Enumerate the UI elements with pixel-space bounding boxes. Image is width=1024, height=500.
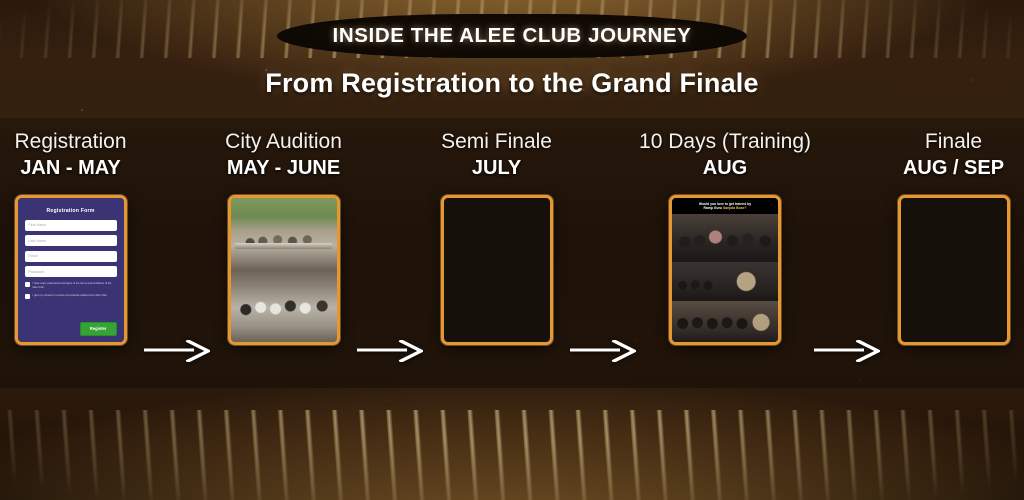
last-name-placeholder: Last Name — [29, 239, 46, 243]
journey-step-registration: Registration JAN - MAY Registration Form… — [0, 130, 141, 345]
form-actions: Register — [25, 322, 117, 336]
banner-title: INSIDE THE ALEE CLUB JOURNEY — [333, 24, 692, 48]
register-button[interactable]: Register — [80, 322, 117, 336]
training-photo-2: group rehearsal with mentor in saree — [672, 262, 778, 301]
first-name-field[interactable]: First Name — [25, 220, 117, 231]
step-name: Finale — [925, 130, 982, 154]
step-card-city-audition[interactable]: outdoor registration queue at audition v… — [228, 195, 340, 345]
arrow-right-icon — [567, 276, 639, 426]
banner-title-ribbon: INSIDE THE ALEE CLUB JOURNEY — [277, 14, 747, 58]
step-card-training[interactable]: Would you love to get trained by Ramp Gu… — [669, 195, 781, 345]
step-date: AUG / SEP — [903, 157, 1004, 179]
step-card-registration[interactable]: Registration Form First Name Last Name E… — [15, 195, 127, 345]
journey-steps-row: Registration JAN - MAY Registration Form… — [0, 130, 1024, 385]
terms-checkbox[interactable] — [25, 282, 30, 287]
training-photo-collage: Would you love to get trained by Ramp Gu… — [672, 198, 778, 342]
step-name: City Audition — [225, 130, 342, 154]
journey-step-training: 10 Days (Training) AUG Would you love to… — [639, 130, 811, 345]
promo-checkbox[interactable] — [25, 294, 30, 299]
journey-step-semi-finale: Semi Finale JULY three contestants in fo… — [426, 130, 567, 345]
step-date: MAY - JUNE — [227, 157, 340, 179]
audition-photo-collage: outdoor registration queue at audition v… — [231, 198, 337, 342]
journey-infographic: INSIDE THE ALEE CLUB JOURNEY From Regist… — [0, 0, 1024, 500]
arrow-right-icon — [811, 276, 883, 426]
journey-step-city-audition: City Audition MAY - JUNE outdoor registr… — [213, 130, 354, 345]
step-name: Semi Finale — [441, 130, 552, 154]
step-date: AUG — [703, 157, 747, 179]
last-name-field[interactable]: Last Name — [25, 235, 117, 246]
email-placeholder: Email — [29, 254, 38, 258]
step-date: JULY — [472, 157, 521, 179]
registration-form-screenshot: Registration Form First Name Last Name E… — [18, 198, 124, 342]
email-field[interactable]: Email — [25, 251, 117, 262]
step-card-finale[interactable]: winner with crown and bouquet flanked by… — [898, 195, 1010, 345]
promo-checkbox-row[interactable]: I give my consent to receive promotional… — [25, 294, 117, 300]
promo-checkbox-label: I give my consent to receive promotional… — [33, 294, 108, 298]
journey-step-finale: Finale AUG / SEP winner with crown and b… — [883, 130, 1024, 345]
banner-subtitle: From Registration to the Grand Finale — [0, 68, 1024, 99]
step-name: Registration — [14, 130, 126, 154]
training-banner-line2: Ramp Guru Sanjota Bose? — [704, 206, 747, 210]
terms-checkbox-label: I have read, understood and agree to the… — [33, 282, 117, 290]
password-field[interactable]: Password — [25, 266, 117, 277]
step-card-semi-finale[interactable]: three contestants in formal black attire… — [441, 195, 553, 345]
step-date: JAN - MAY — [20, 157, 120, 179]
audition-photo-bottom: students standing in line at city auditi… — [231, 270, 337, 342]
audition-photo-top: outdoor registration queue at audition v… — [231, 198, 337, 270]
first-name-placeholder: First Name — [29, 223, 47, 227]
registration-form-title: Registration Form — [25, 208, 117, 214]
training-photo-1: training session audience — [672, 214, 778, 262]
training-banner-prefix: Ramp Guru — [704, 206, 723, 210]
training-banner: Would you love to get trained by Ramp Gu… — [672, 198, 778, 214]
training-banner-highlight: Sanjota Bose? — [723, 206, 747, 210]
arrow-right-icon — [141, 276, 213, 426]
password-placeholder: Password — [29, 270, 45, 274]
terms-checkbox-row[interactable]: I have read, understood and agree to the… — [25, 282, 117, 290]
training-photo-3: team in black t-shirts with trainer — [672, 301, 778, 342]
step-name: 10 Days (Training) — [639, 130, 811, 154]
arrow-right-icon — [354, 276, 426, 426]
